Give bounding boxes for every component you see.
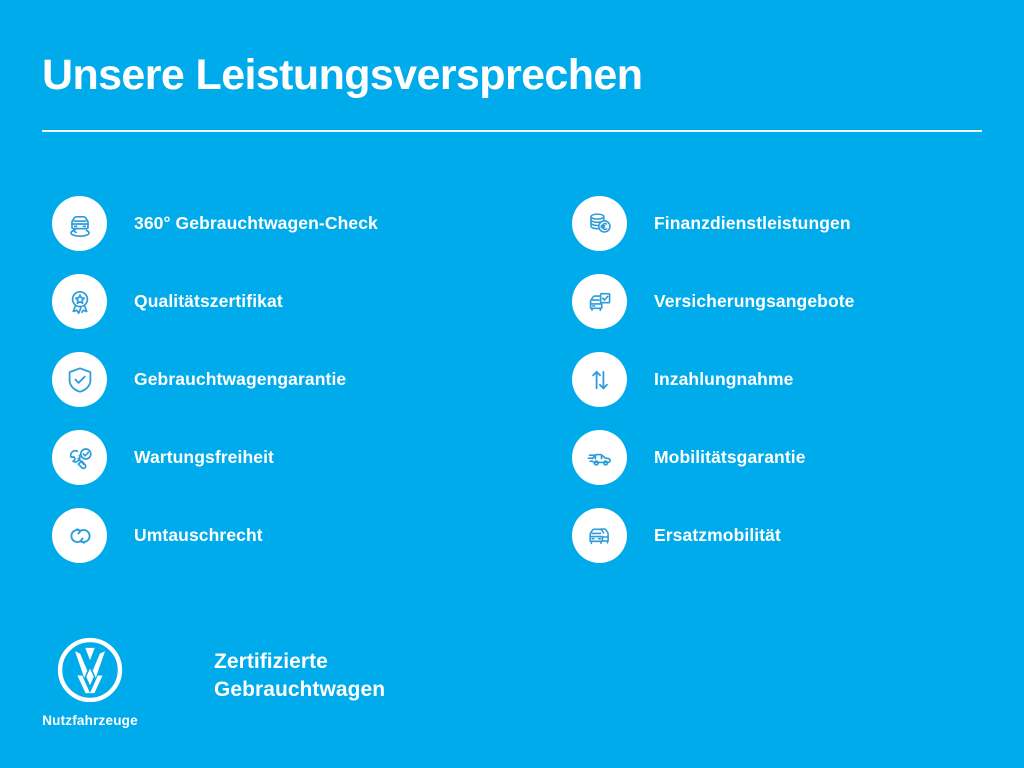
brand-block: Nutzfahrzeuge Zertifizierte Gebrauchtwag… (42, 636, 385, 728)
benefit-label: Inzahlungnahme (654, 369, 793, 390)
benefit-item-gebrauchtwagengarantie[interactable]: Gebrauchtwagengarantie (52, 352, 512, 407)
benefit-label: Wartungsfreiheit (134, 447, 274, 468)
benefits-right-column: Finanzdienstleistungen Versicherungsange… (572, 196, 1024, 586)
brand-tagline: Zertifizierte Gebrauchtwagen (214, 648, 385, 703)
car-motion-icon (572, 430, 627, 485)
page-title: Unsere Leistungsversprechen (42, 54, 642, 97)
benefit-item-versicherungsangebote[interactable]: Versicherungsangebote (572, 274, 1024, 329)
title-divider (42, 130, 982, 132)
car-document-check-icon (572, 274, 627, 329)
benefit-item-ersatzmobilitaet[interactable]: Ersatzmobilität (572, 508, 1024, 563)
shield-check-icon (52, 352, 107, 407)
benefit-label: Qualitätszertifikat (134, 291, 283, 312)
benefit-item-360-check[interactable]: 360° Gebrauchtwagen-Check (52, 196, 512, 251)
brand-tagline-line1: Zertifizierte (214, 648, 385, 676)
benefit-label: 360° Gebrauchtwagen-Check (134, 213, 378, 234)
coins-euro-icon (572, 196, 627, 251)
volkswagen-logo (56, 636, 124, 704)
car-360-check-icon (52, 196, 107, 251)
benefit-item-wartungsfreiheit[interactable]: Wartungsfreiheit (52, 430, 512, 485)
benefit-item-inzahlungnahme[interactable]: Inzahlungnahme (572, 352, 1024, 407)
benefit-item-mobilitaetsgarantie[interactable]: Mobilitätsgarantie (572, 430, 1024, 485)
benefit-label: Ersatzmobilität (654, 525, 781, 546)
two-cars-icon (572, 508, 627, 563)
benefits-left-column: 360° Gebrauchtwagen-Check Qualitätszerti… (52, 196, 512, 586)
arrows-up-down-icon (572, 352, 627, 407)
award-rosette-icon (52, 274, 107, 329)
benefit-label: Gebrauchtwagengarantie (134, 369, 346, 390)
slide-root: Unsere Leistungsversprechen 360° Gebrauc… (0, 0, 1024, 768)
brand-tagline-line2: Gebrauchtwagen (214, 676, 385, 704)
benefit-label: Versicherungsangebote (654, 291, 855, 312)
exchange-arrows-icon (52, 508, 107, 563)
benefit-item-finanzdienstleistungen[interactable]: Finanzdienstleistungen (572, 196, 1024, 251)
benefit-label: Finanzdienstleistungen (654, 213, 851, 234)
benefit-item-qualitaetszertifikat[interactable]: Qualitätszertifikat (52, 274, 512, 329)
benefit-label: Umtauschrecht (134, 525, 263, 546)
wrench-check-icon (52, 430, 107, 485)
brand-mark: Nutzfahrzeuge (42, 636, 154, 728)
benefit-label: Mobilitätsgarantie (654, 447, 806, 468)
benefit-item-umtauschrecht[interactable]: Umtauschrecht (52, 508, 512, 563)
brand-logo-subtitle: Nutzfahrzeuge (38, 713, 142, 728)
